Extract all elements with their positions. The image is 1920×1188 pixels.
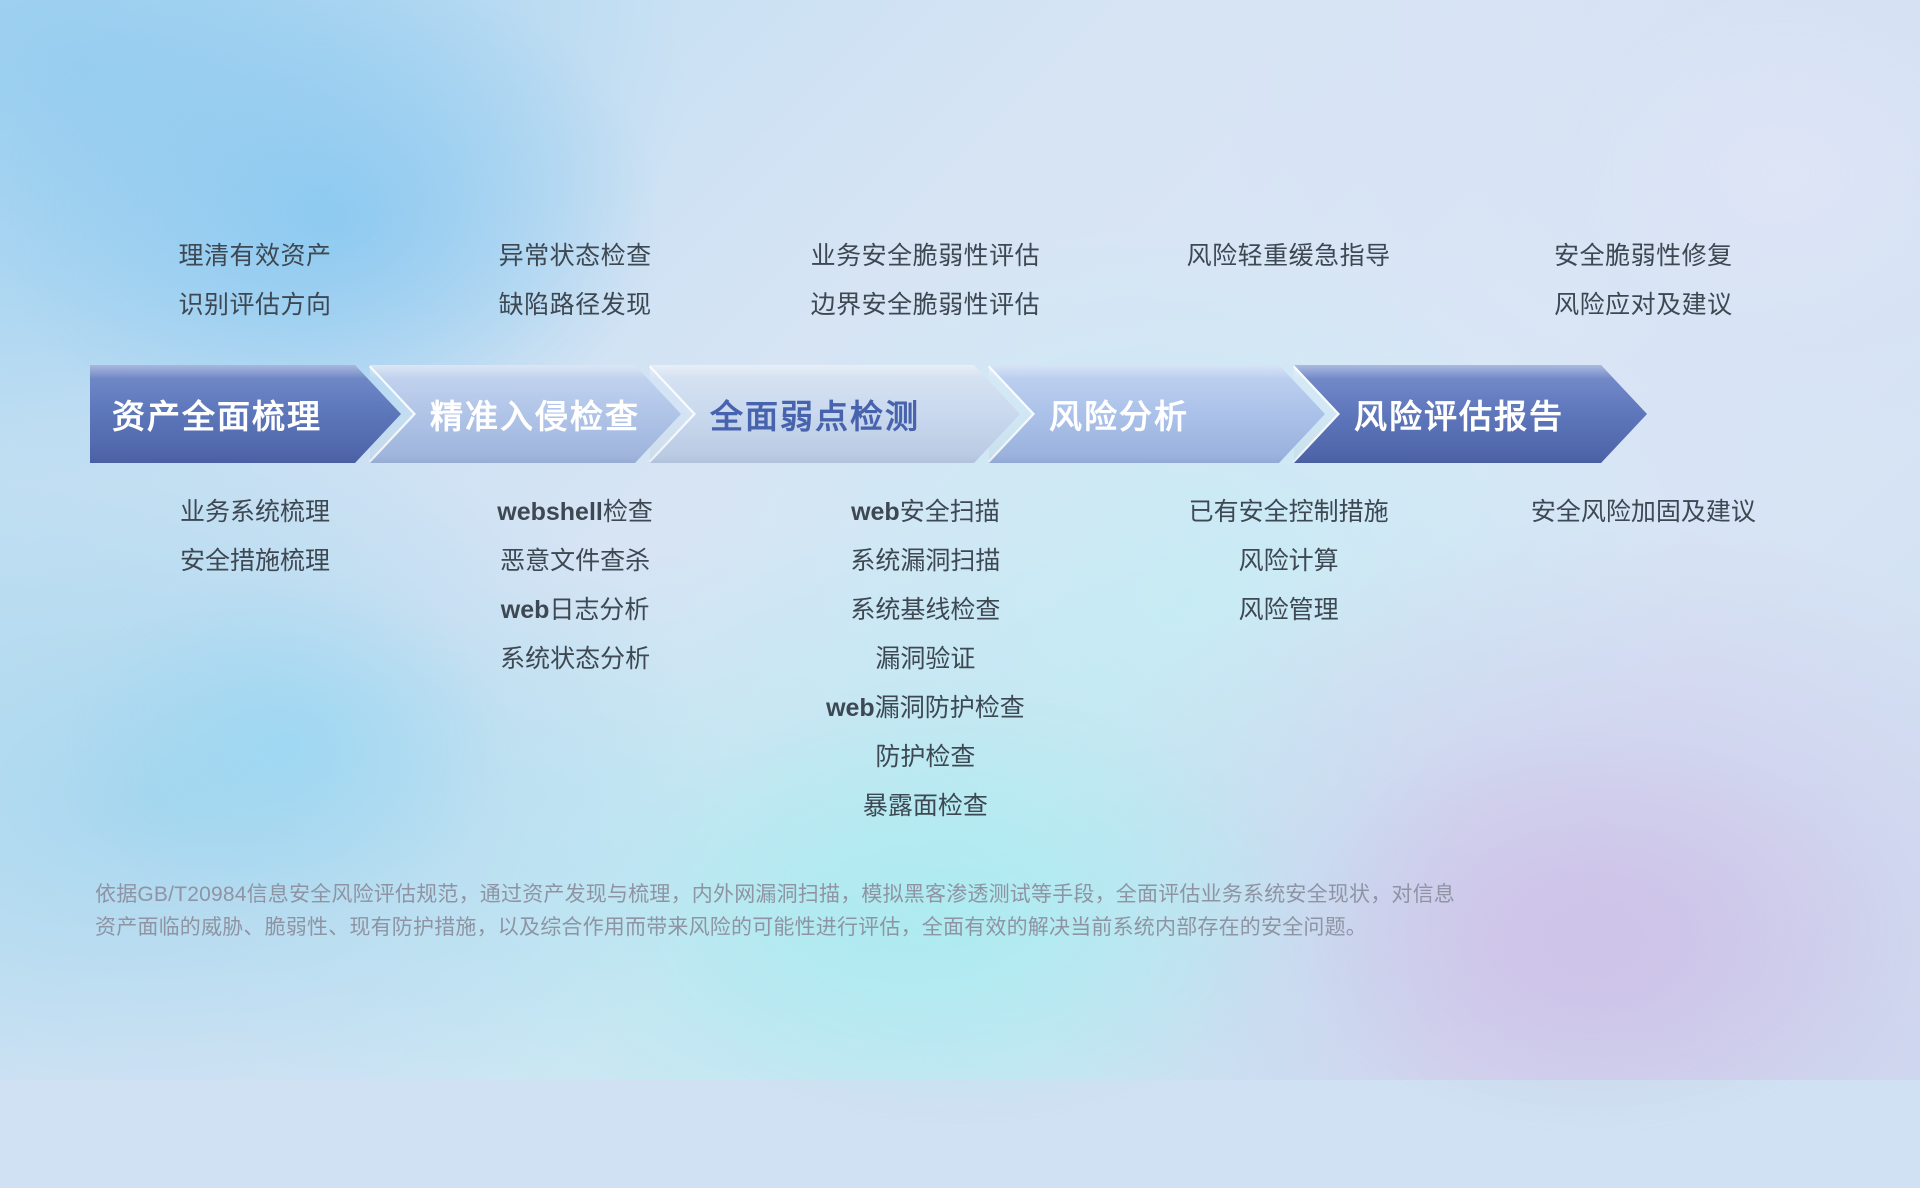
detail-item-text: 暴露面检查 [863,792,988,820]
detail-list-item: 系统基线检查 [735,586,1116,635]
footer-line-2: 资产面临的威胁、脆弱性、现有防护措施，以及综合作用而带来风险的可能性进行评估，全… [95,911,1595,944]
top-label-column: 理清有效资产识别评估方向 [95,232,415,330]
stage-chevron-3[interactable]: 全面弱点检测 [650,365,1020,463]
top-label-column: 安全脆弱性修复风险应对及建议 [1462,232,1825,330]
stage-chevron-1[interactable]: 资产全面梳理 [90,365,401,463]
detail-item-text: 日志分析 [549,596,649,624]
detail-list-item: 安全措施梳理 [95,537,415,586]
top-label-line: 风险应对及建议 [1462,281,1825,330]
top-label-column: 异常状态检查缺陷路径发现 [415,232,735,330]
stage-label: 全面弱点检测 [710,390,920,438]
detail-item-text: 风险管理 [1239,596,1339,624]
detail-item-bold-prefix: web [826,694,875,722]
infographic-content: 理清有效资产识别评估方向异常状态检查缺陷路径发现业务安全脆弱性评估边界安全脆弱性… [0,0,1920,1080]
stage-label: 风险评估报告 [1354,390,1564,438]
detail-list-item: 暴露面检查 [735,782,1116,831]
stage-chevron-4[interactable]: 风险分析 [989,365,1325,463]
top-label-row: 理清有效资产识别评估方向异常状态检查缺陷路径发现业务安全脆弱性评估边界安全脆弱性… [95,232,1825,330]
detail-item-text: 安全措施梳理 [180,547,330,575]
detail-item-bold-prefix: web [501,596,550,624]
detail-list-item: 漏洞验证 [735,635,1116,684]
top-label-line: 边界安全脆弱性评估 [735,281,1116,330]
stage-label: 资产全面梳理 [112,390,322,438]
detail-list-column: 已有安全控制措施风险计算风险管理 [1116,488,1462,635]
detail-list-item: 系统状态分析 [415,635,735,684]
detail-item-text: 恶意文件查杀 [500,547,650,575]
bottom-detail-row: 业务系统梳理安全措施梳理webshell检查恶意文件查杀web日志分析系统状态分… [95,488,1825,831]
detail-item-text: 检查 [603,498,653,526]
detail-list-column: webshell检查恶意文件查杀web日志分析系统状态分析 [415,488,735,684]
detail-item-text: 防护检查 [875,743,975,771]
detail-list-column: web安全扫描系统漏洞扫描系统基线检查漏洞验证web漏洞防护检查防护检查暴露面检… [735,488,1116,831]
top-label-line: 识别评估方向 [95,281,415,330]
detail-list-item: 业务系统梳理 [95,488,415,537]
stage-label: 风险分析 [1049,390,1189,438]
detail-item-text: 漏洞验证 [875,645,975,673]
top-label-line: 业务安全脆弱性评估 [735,232,1116,281]
detail-list-item: webshell检查 [415,488,735,537]
detail-item-text: 安全扫描 [900,498,1000,526]
detail-item-text: 系统漏洞扫描 [850,547,1000,575]
detail-item-text: 系统基线检查 [850,596,1000,624]
process-chevron-band: 资产全面梳理精准入侵检查全面弱点检测风险分析风险评估报告 [90,365,1838,463]
footer-line-1: 依据GB/T20984信息安全风险评估规范，通过资产发现与梳理，内外网漏洞扫描，… [95,878,1595,911]
top-label-line: 风险轻重缓急指导 [1116,232,1462,281]
detail-list-item: 风险管理 [1116,586,1462,635]
top-label-column: 风险轻重缓急指导 [1116,232,1462,330]
detail-item-text: 已有安全控制措施 [1189,498,1389,526]
detail-item-bold-prefix: webshell [497,498,603,526]
detail-list-item: web安全扫描 [735,488,1116,537]
stage-label: 精准入侵检查 [430,390,640,438]
stage-chevron-2[interactable]: 精准入侵检查 [370,365,681,463]
detail-list-item: 恶意文件查杀 [415,537,735,586]
detail-list-column: 安全风险加固及建议 [1462,488,1825,537]
top-label-line: 缺陷路径发现 [415,281,735,330]
detail-item-text: 业务系统梳理 [180,498,330,526]
detail-item-text: 安全风险加固及建议 [1531,498,1756,526]
detail-item-text: 系统状态分析 [500,645,650,673]
detail-list-column: 业务系统梳理安全措施梳理 [95,488,415,586]
detail-list-item: web日志分析 [415,586,735,635]
detail-list-item: 风险计算 [1116,537,1462,586]
detail-list-item: 防护检查 [735,733,1116,782]
detail-item-bold-prefix: web [851,498,900,526]
detail-list-item: 安全风险加固及建议 [1462,488,1825,537]
top-label-line: 安全脆弱性修复 [1462,232,1825,281]
detail-item-text: 风险计算 [1239,547,1339,575]
detail-list-item: 系统漏洞扫描 [735,537,1116,586]
top-label-line: 异常状态检查 [415,232,735,281]
top-label-line: 理清有效资产 [95,232,415,281]
detail-list-item: 已有安全控制措施 [1116,488,1462,537]
footer-description: 依据GB/T20984信息安全风险评估规范，通过资产发现与梳理，内外网漏洞扫描，… [95,878,1595,944]
stage-chevron-5[interactable]: 风险评估报告 [1294,365,1647,463]
top-label-column: 业务安全脆弱性评估边界安全脆弱性评估 [735,232,1116,330]
detail-list-item: web漏洞防护检查 [735,684,1116,733]
detail-item-text: 漏洞防护检查 [875,694,1025,722]
